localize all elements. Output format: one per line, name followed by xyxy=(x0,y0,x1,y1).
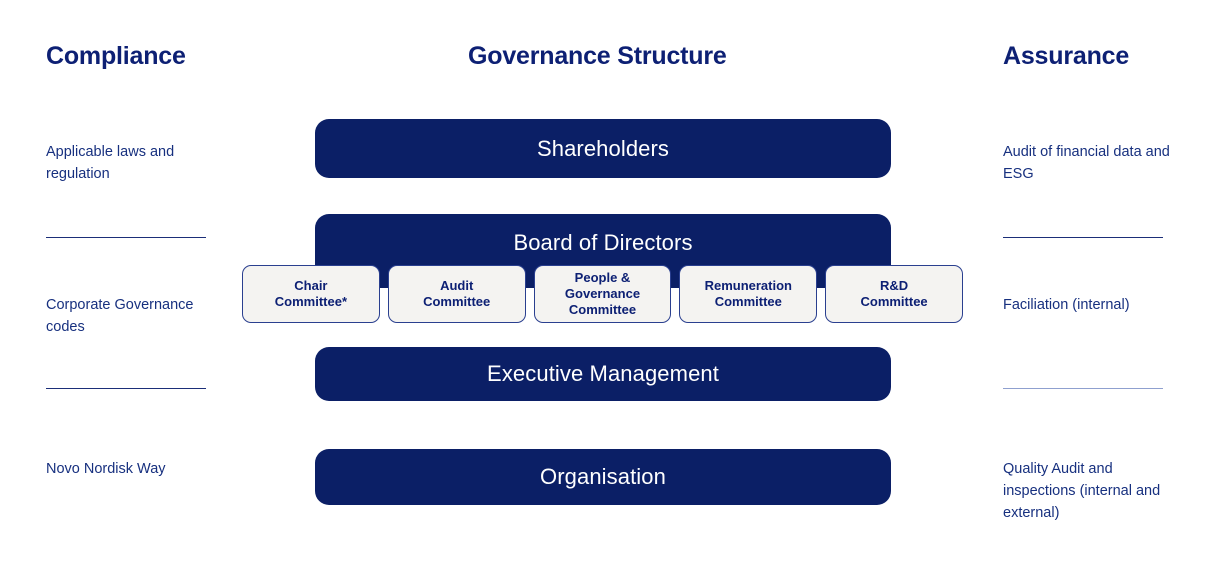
assurance-note-quality-audit-inspections: Quality Audit and inspections (internal … xyxy=(1003,458,1181,524)
column-heading-assurance: Assurance xyxy=(1003,42,1129,71)
committee-chair[interactable]: Chair Committee* xyxy=(242,265,380,323)
committee-rd[interactable]: R&D Committee xyxy=(825,265,963,323)
governance-structure-diagram: Compliance Governance Structure Assuranc… xyxy=(0,0,1208,573)
committee-people-governance[interactable]: People & Governance Committee xyxy=(534,265,672,323)
committee-remuneration[interactable]: Remuneration Committee xyxy=(679,265,817,323)
bar-executive-management-label: Executive Management xyxy=(487,361,719,387)
compliance-note-corporate-governance-codes: Corporate Governance codes xyxy=(46,294,221,338)
column-heading-governance: Governance Structure xyxy=(468,42,727,71)
committee-row: Chair Committee* Audit Committee People … xyxy=(242,265,963,323)
divider-assurance-upper xyxy=(1003,237,1163,238)
compliance-note-novo-nordisk-way: Novo Nordisk Way xyxy=(46,458,221,480)
compliance-note-applicable-laws: Applicable laws and regulation xyxy=(46,141,221,185)
bar-executive-management[interactable]: Executive Management xyxy=(315,347,891,401)
column-heading-compliance: Compliance xyxy=(46,42,186,71)
divider-compliance-upper xyxy=(46,237,206,238)
assurance-note-faciliation-internal: Faciliation (internal) xyxy=(1003,294,1181,316)
committee-audit[interactable]: Audit Committee xyxy=(388,265,526,323)
bar-organisation[interactable]: Organisation xyxy=(315,449,891,505)
divider-compliance-lower xyxy=(46,388,206,389)
assurance-note-audit-financial-data: Audit of financial data and ESG xyxy=(1003,141,1181,185)
bar-organisation-label: Organisation xyxy=(540,464,666,490)
bar-shareholders[interactable]: Shareholders xyxy=(315,119,891,178)
bar-board-of-directors-label: Board of Directors xyxy=(513,230,692,256)
bar-shareholders-label: Shareholders xyxy=(537,136,669,162)
divider-assurance-lower xyxy=(1003,388,1163,389)
